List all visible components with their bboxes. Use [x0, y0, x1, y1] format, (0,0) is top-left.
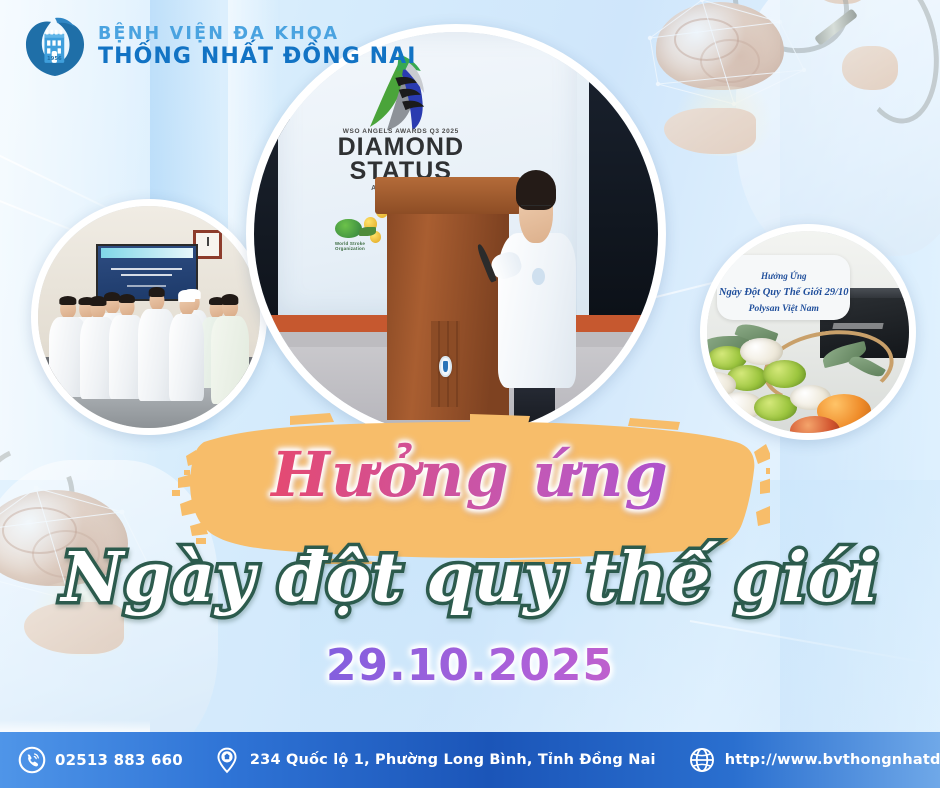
website-url: http://www.bvthongnhatdn.vn — [725, 752, 940, 768]
flower-basket-with-sign-photo: Hưởng Ứng Ngày Đột Quy Thế Giới 29/10 Po… — [700, 224, 916, 440]
brand-line-2: THỐNG NHẤT ĐỒNG NAI — [98, 46, 417, 68]
speaker — [496, 177, 577, 427]
brand-line-1: BỆNH VIỆN ĐA KHOA — [98, 26, 417, 44]
phone-icon — [18, 746, 46, 774]
footer-phone[interactable]: 02513 883 660 — [18, 746, 183, 774]
phone-number: 02513 883 660 — [55, 751, 183, 769]
svg-text:1956: 1956 — [47, 56, 62, 62]
world-stroke-org-logo — [335, 219, 362, 239]
award-status-line-1: DIAMOND — [314, 135, 487, 159]
sign-line-1: Hưởng Ứng — [717, 271, 850, 281]
globe-icon — [688, 746, 716, 774]
sign-line-3: Polysan Việt Nam — [717, 304, 850, 314]
brand-lockup: 1956 BỆNH VIỆN ĐA KHOA THỐNG NHẤT ĐỒNG N… — [22, 14, 417, 80]
hospital-heart-tower-logo-icon: 1956 — [22, 14, 88, 80]
map-pin-home-icon — [213, 746, 241, 774]
podium — [387, 206, 508, 420]
headline-line-1: Hưởng ứng — [0, 438, 940, 511]
doctor-holding-brain-hologram — [616, 0, 940, 240]
footer-highlight — [0, 720, 150, 732]
event-sign: Hưởng Ứng Ngày Đột Quy Thế Giới 29/10 Po… — [717, 255, 850, 320]
address-text: 234 Quốc lộ 1, Phường Long Bình, Tỉnh Đồ… — [250, 752, 656, 768]
footer-address[interactable]: 234 Quốc lộ 1, Phường Long Bình, Tỉnh Đồ… — [213, 746, 656, 774]
sign-line-2: Ngày Đột Quy Thế Giới 29/10 — [717, 287, 850, 298]
event-date: 29.10.2025 — [0, 640, 940, 691]
poster-canvas: WSO ANGELS AWARDS Q3 2025 DIAMOND STATUS… — [0, 0, 940, 788]
hospital-seal-icon — [439, 356, 451, 377]
medical-staff-group-photo — [31, 199, 267, 435]
contact-footer: 02513 883 660 234 Quốc lộ 1, Phường Long… — [0, 732, 940, 788]
footer-website[interactable]: http://www.bvthongnhatdn.vn — [688, 746, 940, 774]
headline-line-2: Ngày đột quy thế giới — [0, 538, 940, 618]
speaker-at-podium-photo: WSO ANGELS AWARDS Q3 2025 DIAMOND STATUS… — [246, 24, 666, 444]
